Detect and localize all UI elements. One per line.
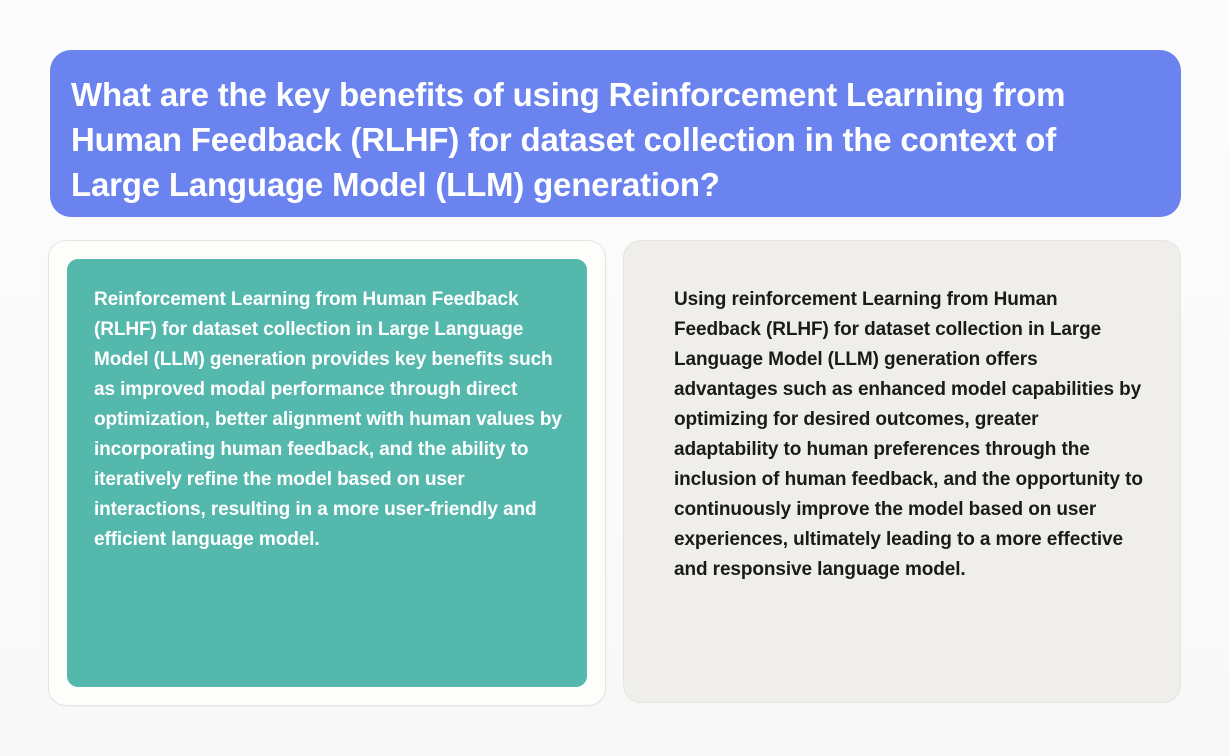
question-banner: What are the key benefits of using Reinf… (50, 50, 1181, 217)
answer-card-left[interactable]: Reinforcement Learning from Human Feedba… (48, 240, 606, 706)
answer-right-text: Using reinforcement Learning from Human … (674, 285, 1144, 585)
answer-left-text: Reinforcement Learning from Human Feedba… (94, 285, 563, 555)
answer-card-right[interactable]: Using reinforcement Learning from Human … (623, 240, 1181, 703)
answer-left-panel: Reinforcement Learning from Human Feedba… (67, 259, 587, 687)
question-text: What are the key benefits of using Reinf… (71, 72, 1151, 207)
page-root: What are the key benefits of using Reinf… (0, 0, 1229, 756)
answer-comparison-row: Reinforcement Learning from Human Feedba… (0, 240, 1229, 710)
